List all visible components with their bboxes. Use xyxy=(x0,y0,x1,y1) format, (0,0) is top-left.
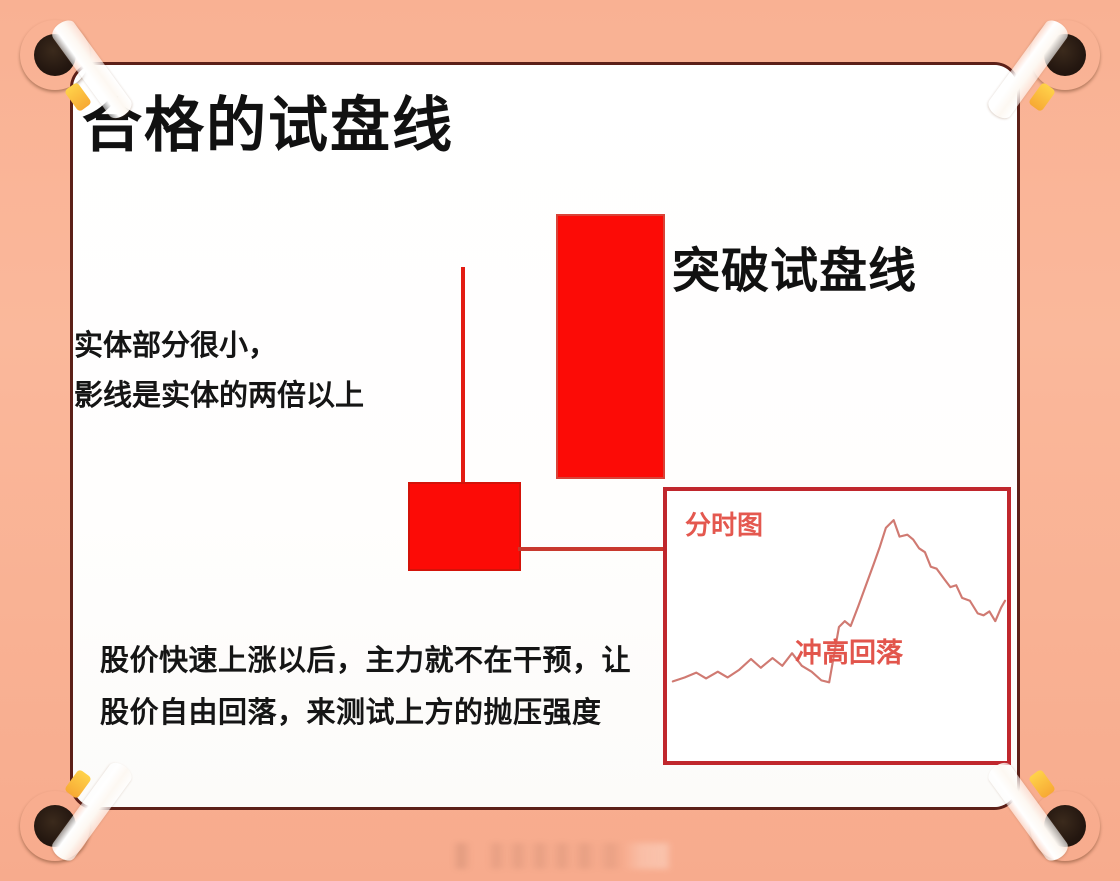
body-size-note-line-2: 影线是实体的两倍以上 xyxy=(74,372,364,422)
explanation-text: 股价快速上涨以后，主力就不在干预，让股价自由回落，来测试上方的抛压强度 xyxy=(100,636,660,739)
body-size-note-line-1: 实体部分很小， xyxy=(74,322,364,372)
blurred-watermark xyxy=(452,843,672,869)
inset-chart-title: 分时图 xyxy=(685,505,763,542)
breakout-candle-body xyxy=(556,214,665,479)
test-candle-body xyxy=(408,482,521,571)
test-candle-upper-wick xyxy=(461,267,465,485)
corner-decoration-top-left xyxy=(6,6,126,126)
corner-decoration-bottom-right xyxy=(994,755,1114,875)
page-title: 合格的试盘线 xyxy=(82,96,454,156)
corner-decoration-top-right xyxy=(994,6,1114,126)
poster-root: 合格的试盘线 突破试盘线 实体部分很小， 影线是实体的两倍以上 分时图 冲高回落… xyxy=(0,0,1120,881)
inset-chart-annotation: 冲高回落 xyxy=(795,631,903,670)
corner-decoration-bottom-left xyxy=(6,755,126,875)
breakout-label: 突破试盘线 xyxy=(672,248,917,296)
body-size-note: 实体部分很小， 影线是实体的两倍以上 xyxy=(74,322,364,422)
candle-to-inset-connector xyxy=(518,547,670,551)
intraday-chart-inset: 分时图 冲高回落 xyxy=(663,487,1011,765)
